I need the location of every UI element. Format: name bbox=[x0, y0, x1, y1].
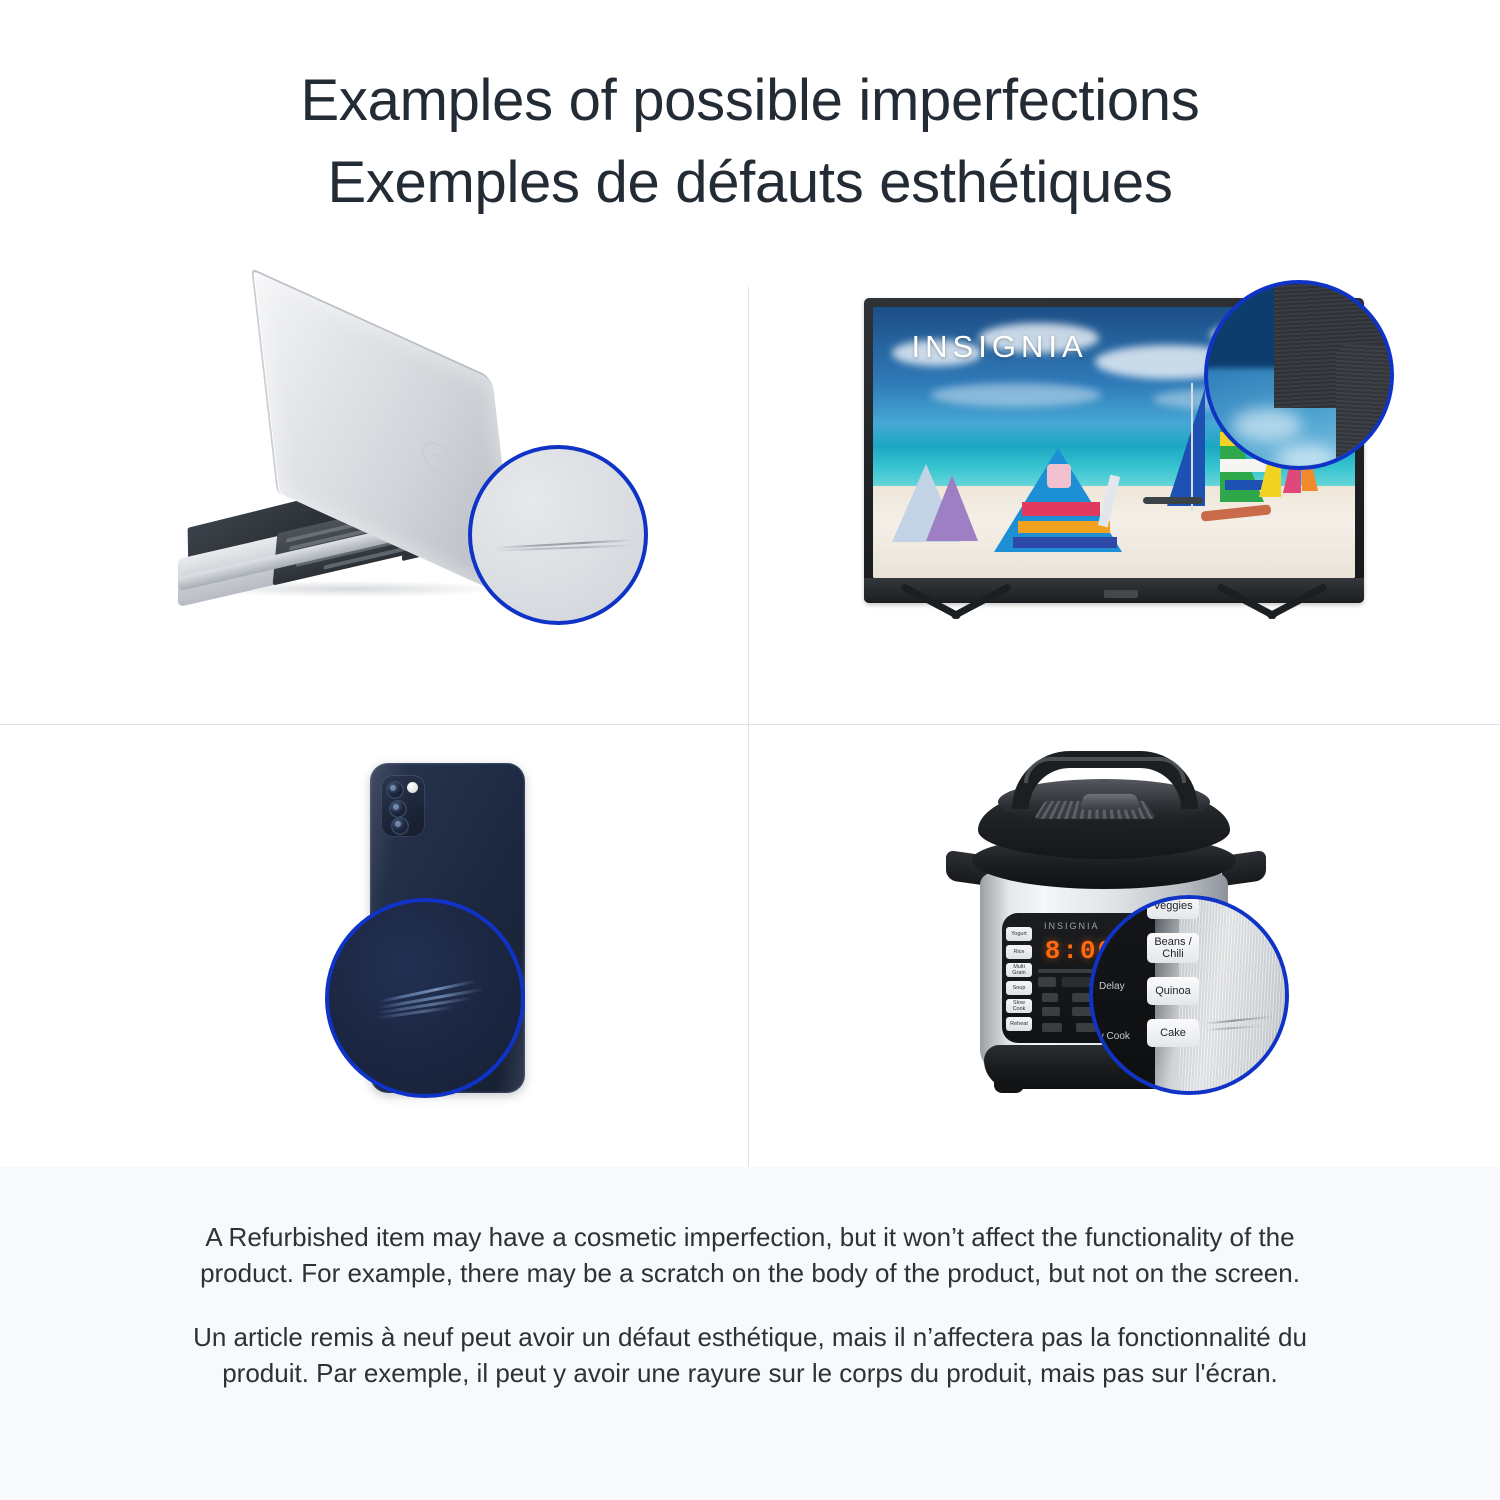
footer-disclaimer: A Refurbished item may have a cosmetic i… bbox=[0, 1167, 1500, 1500]
tv-brand-label: INSIGNIA bbox=[912, 329, 1088, 365]
cooker-magnified-button-quinoa[interactable]: Quinoa bbox=[1147, 977, 1199, 1005]
laptop-magnifier-circle bbox=[468, 445, 648, 625]
cooker-scratch-mark bbox=[1205, 1019, 1279, 1037]
header: Examples of possible imperfections Exemp… bbox=[0, 0, 1500, 250]
cooker-foot-left bbox=[994, 1081, 1024, 1093]
page-title-english: Examples of possible imperfections bbox=[301, 60, 1200, 142]
phone-magnifier-circle bbox=[325, 898, 525, 1098]
sailboat-blue bbox=[1167, 388, 1205, 506]
cooker-magnified-panel-dark bbox=[1093, 899, 1155, 1095]
cooker-button-soup[interactable]: Soup bbox=[1006, 981, 1032, 995]
tent-stripe-navy bbox=[1013, 537, 1117, 548]
tent-window bbox=[1047, 464, 1071, 488]
cooker-magnified-button-cake[interactable]: Cake bbox=[1147, 1019, 1199, 1047]
refurbished-imperfections-infographic: Examples of possible imperfections Exemp… bbox=[0, 0, 1500, 1500]
tent-stripe-orange bbox=[1018, 521, 1110, 533]
cooker-magnified-button-beans-chili[interactable]: Beans / Chili bbox=[1147, 933, 1199, 963]
panel-pressure-cooker: INSIGNIA 8:00 Yogurt Rice Multi Grain So… bbox=[749, 725, 1500, 1167]
cooker-button-slow-cook[interactable]: Slow Cook bbox=[1006, 999, 1032, 1013]
tv-logo-nub bbox=[1104, 590, 1138, 598]
phone-illustration bbox=[295, 753, 545, 1143]
cooker-brand-label: INSIGNIA bbox=[1044, 921, 1100, 931]
panel-phone bbox=[0, 725, 748, 1167]
laptop-illustration bbox=[170, 325, 550, 645]
laptop-scratch-mark bbox=[494, 541, 634, 551]
tv-illustration: INSIGNIA bbox=[864, 298, 1384, 668]
cooker-magnified-label-delay: Delay bbox=[1099, 981, 1125, 992]
disclaimer-english: A Refurbished item may have a cosmetic i… bbox=[185, 1219, 1315, 1291]
beach-tent-purple bbox=[926, 475, 978, 541]
cooker-button-rice[interactable]: Rice bbox=[1006, 945, 1032, 959]
page-title-french: Exemples de défauts esthétiques bbox=[327, 142, 1172, 224]
tent-stripe-red bbox=[1022, 502, 1100, 516]
tv-bottom-bezel bbox=[864, 578, 1364, 603]
cooker-handle-highlight bbox=[1024, 757, 1186, 783]
phone-camera-module bbox=[381, 775, 425, 837]
cooker-button-reheat[interactable]: Reheat bbox=[1006, 1017, 1032, 1031]
cooker-button-yogurt[interactable]: Yogurt bbox=[1006, 927, 1032, 941]
product-examples-grid: INSIGNIA bbox=[0, 250, 1500, 1167]
disclaimer-french: Un article remis à neuf peut avoir un dé… bbox=[185, 1319, 1315, 1391]
camera-lens-icon bbox=[386, 781, 404, 799]
camera-lens-icon bbox=[391, 817, 409, 835]
sail-mast bbox=[1191, 383, 1193, 511]
camera-flash-icon bbox=[407, 782, 418, 793]
cooker-magnifier-circle: Delay ow Cook Veggies Beans / Chili Quin… bbox=[1089, 895, 1289, 1095]
tv-magnifier-circle bbox=[1204, 280, 1394, 470]
tv-magnified-bezel-side bbox=[1336, 344, 1392, 470]
beach-debris bbox=[1143, 497, 1203, 504]
cooker-magnified-button-veggies[interactable]: Veggies bbox=[1147, 895, 1199, 919]
cooker-button-multi-grain[interactable]: Multi Grain bbox=[1006, 963, 1032, 977]
panel-tv: INSIGNIA bbox=[749, 250, 1500, 724]
phone-scratch-marks bbox=[377, 990, 489, 1016]
cooker-magnified-label-slow-cook: ow Cook bbox=[1091, 1031, 1130, 1042]
cooker-illustration: INSIGNIA 8:00 Yogurt Rice Multi Grain So… bbox=[954, 745, 1284, 1145]
camera-lens-icon bbox=[389, 800, 407, 818]
cloud-shape bbox=[931, 383, 1101, 407]
panel-laptop bbox=[0, 250, 748, 724]
